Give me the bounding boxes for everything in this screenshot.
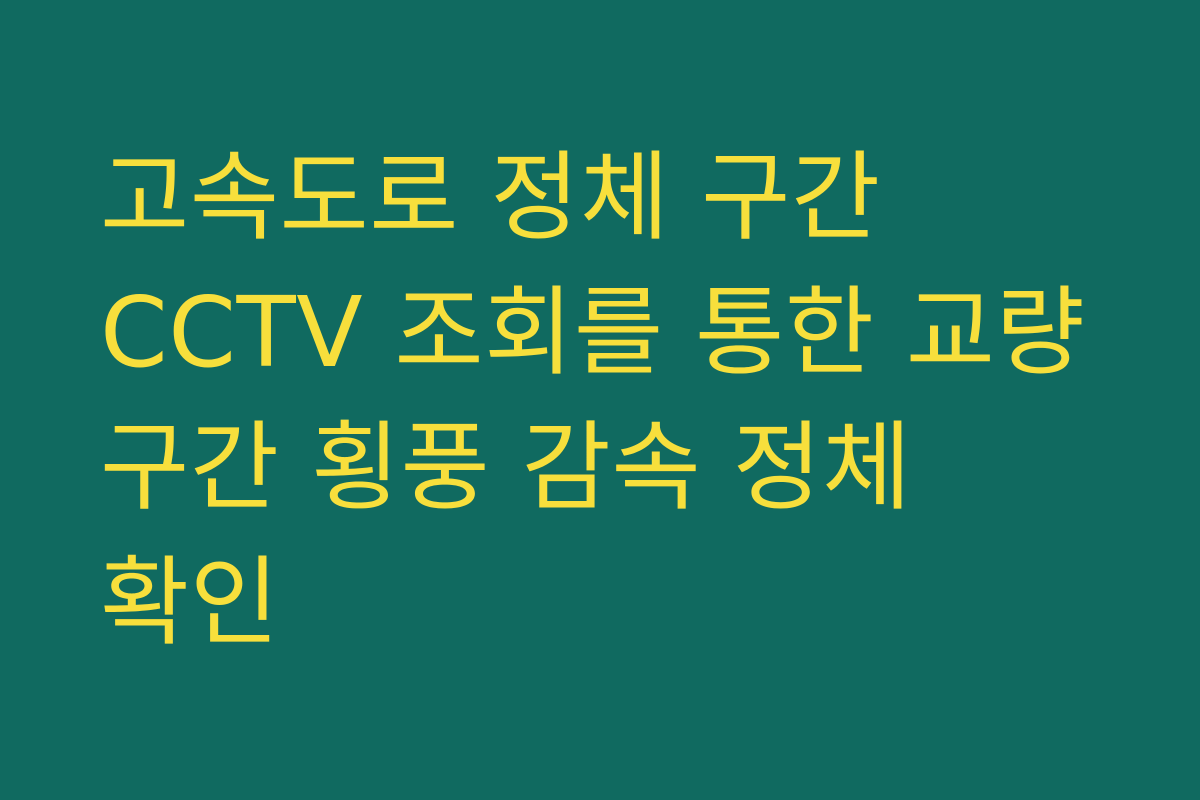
headline-title: 고속도로 정체 구간 CCTV 조회를 통한 교량 구간 횡풍 감속 정체 확인 [100,130,1108,670]
thumbnail-canvas: 고속도로 정체 구간 CCTV 조회를 통한 교량 구간 횡풍 감속 정체 확인 [0,0,1200,800]
headline-block: 고속도로 정체 구간 CCTV 조회를 통한 교량 구간 횡풍 감속 정체 확인 [0,130,1200,670]
